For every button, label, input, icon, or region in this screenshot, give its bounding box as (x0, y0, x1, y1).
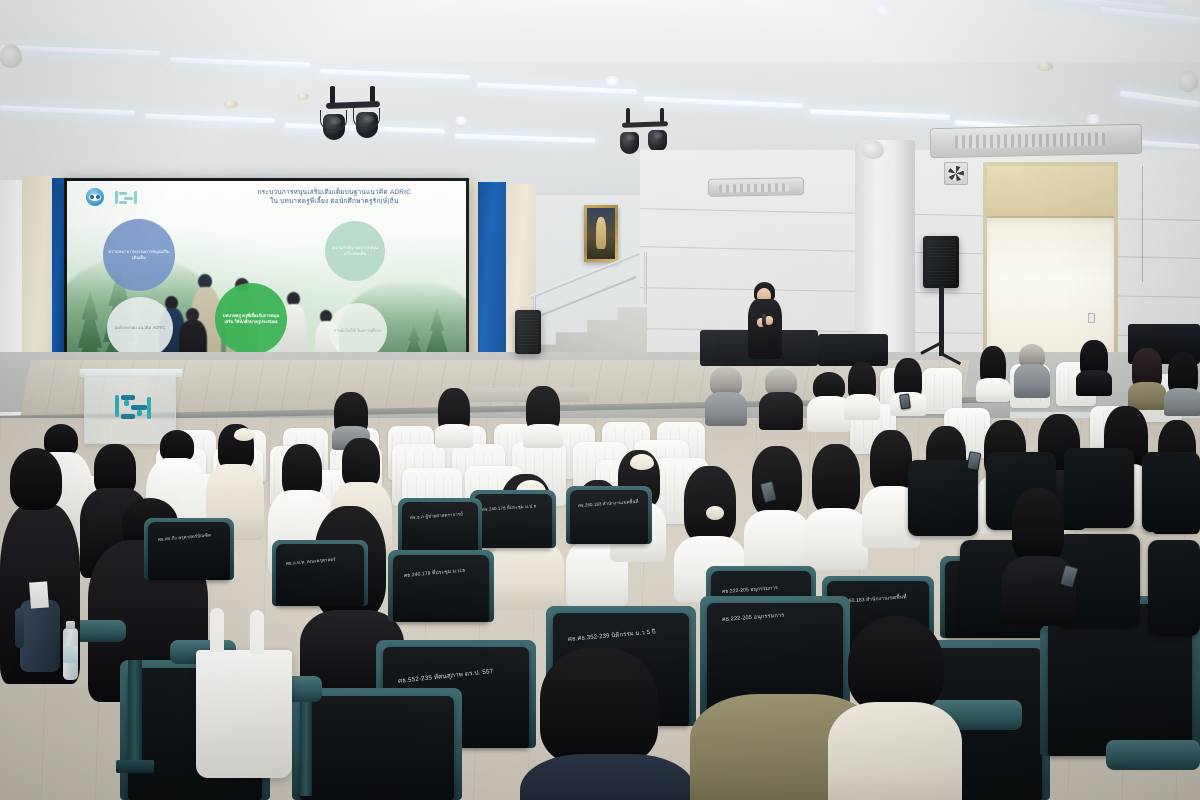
spotlight-lens (651, 132, 663, 139)
spotlight-lens (623, 134, 635, 141)
pole-mounted-speaker (923, 236, 959, 288)
mobile-phone[interactable] (899, 393, 911, 409)
spotlight-rod (370, 86, 375, 102)
spotlight-rod (660, 108, 664, 122)
framed-portrait (584, 205, 618, 262)
smoke-detector (297, 93, 309, 100)
chair-pedestal (300, 700, 312, 796)
roller-blind-valance[interactable] (987, 166, 1114, 218)
paper-sheet (29, 581, 49, 608)
slide-circle-label: บทบาทครู ครูพี่เลี้ยงกับการหนุนเสริม ให้… (219, 313, 283, 324)
auditorium-photo: กระบวนการหนุนเสริมเติมเต็มบนฐานแนวคิด AD… (0, 0, 1200, 800)
slide-circle-grey: องค์ประกอบ แนวคิด ADRIC (107, 297, 173, 359)
chair-auditorium-back[interactable] (1142, 452, 1200, 532)
audience-person (828, 616, 958, 800)
chair-armrest (1106, 740, 1200, 770)
exhaust-fan (944, 162, 968, 185)
speaker-grill (927, 240, 955, 284)
recessed-downlight (604, 76, 620, 86)
navy-backpack[interactable] (20, 600, 60, 672)
presenter-body (748, 299, 782, 359)
audience-person (524, 386, 562, 440)
speaker-stand-pole (939, 286, 944, 356)
chair-auditorium[interactable]: ศธ.240.178 ที่ประชุม ม.ป.ธ (388, 550, 494, 622)
stage-floor-speaker (515, 310, 541, 354)
chair-auditorium[interactable]: ศธ.อ.ท.ท. คณะครุศาสตร์ (272, 540, 368, 606)
slide-title-line2: ใน บทบาทครูพี่เลี้ยง ต่อนักศึกษาครูรัก(ษ… (219, 197, 450, 206)
water-bottle[interactable] (63, 628, 78, 680)
handheld-microphone[interactable] (762, 314, 766, 326)
air-conditioner (930, 124, 1143, 158)
presenter-hand (765, 316, 773, 325)
chair-auditorium-back[interactable] (908, 460, 978, 536)
audience-person (1002, 488, 1076, 620)
chair-auditorium[interactable]: ศธ.260.183 สำนักงานเขตพื้นที่ (566, 486, 652, 544)
spotlight-rod (330, 86, 335, 104)
led-screen: กระบวนการหนุนเสริมเติมเต็มบนฐานแนวคิด AD… (64, 178, 469, 371)
chair-base-foot (116, 760, 154, 773)
smoke-detector (1037, 62, 1053, 71)
school-emblem-icon (86, 188, 104, 206)
tote-handle (250, 610, 264, 654)
recessed-downlight (454, 116, 468, 125)
audience-person (744, 446, 810, 568)
speaker-grill (518, 313, 538, 351)
audience-person (1130, 348, 1164, 402)
slide-title: กระบวนการหนุนเสริมเติมเต็มบนฐานแนวคิด AD… (219, 188, 450, 206)
audience-person (520, 648, 690, 800)
recessed-downlight (872, 4, 892, 16)
chair-auditorium[interactable]: ศธ.240.178 ที่ประชุม ม.ป.ธ (470, 490, 556, 548)
ceiling-upper-band (0, 0, 1200, 62)
spotlight-yoke (320, 110, 347, 130)
presenter (742, 282, 788, 358)
wall-outlet (1088, 313, 1095, 323)
adric-network-logo-icon (115, 190, 137, 206)
chair-auditorium-back[interactable] (1148, 540, 1200, 636)
chair-auditorium[interactable]: ศธ.ธ.ภ ผู้ช่วยศาสตราจารย์ (398, 498, 482, 556)
podium-top-surface (79, 368, 183, 377)
audience-person (762, 368, 800, 424)
audience-person (846, 362, 878, 412)
audience-person (332, 392, 370, 442)
wall-mounted-speaker (0, 44, 22, 68)
audience-person (1016, 344, 1048, 394)
hair-bow (234, 428, 254, 441)
blind-pull-cord[interactable] (1142, 166, 1143, 282)
chair-auditorium[interactable]: ศธ.ศธ.ถึง ครุศาสตร์บัณฑิต (144, 518, 234, 580)
tote-handle (210, 608, 224, 652)
slide-title-line1: กระบวนการหนุนเสริมเติมเต็มบนฐานแนวคิด AD… (219, 188, 450, 197)
slide-circle-label: การนำไปใช้ ในสถานศึกษา (334, 328, 383, 334)
portrait-image (587, 208, 615, 259)
slide-circle-mint: ความสำคัญ ของการหนุนเสริมเติมเต็ม (325, 221, 385, 281)
audience-person (1078, 340, 1110, 388)
slide-circle-blue: ความหมาย กระบวนการหนุนเสริมเติมเต็ม (103, 219, 175, 291)
hair-scrunchie (706, 506, 724, 520)
air-conditioner (708, 177, 804, 197)
slide-circle-pale: การนำไปใช้ ในสถานศึกษา (329, 303, 387, 359)
handrail-post (644, 252, 647, 304)
institution-logo-icon (115, 391, 151, 425)
ac-grill (955, 133, 1105, 149)
chair-pedestal (128, 660, 142, 770)
audience-person (804, 444, 868, 564)
wall-mounted-speaker (862, 140, 884, 159)
stage-spotlight-rig (318, 86, 390, 148)
slide-circle-label: ความหมาย กระบวนการหนุนเสริมเติมเต็ม (107, 249, 171, 260)
ac-grill (719, 183, 789, 192)
spotlight-yoke (353, 108, 380, 128)
slide-circle-green: บทบาทครู ครูพี่เลี้ยงกับการหนุนเสริม ให้… (215, 283, 287, 355)
canvas-tote-bag[interactable] (196, 650, 292, 778)
slide-circle-label: องค์ประกอบ แนวคิด ADRIC (114, 325, 165, 331)
slide-content: กระบวนการหนุนเสริมเติมเต็มบนฐานแนวคิด AD… (67, 181, 466, 368)
hair-bow (630, 454, 654, 470)
audience-person (708, 366, 744, 422)
smoke-detector (224, 100, 238, 108)
audience-person (436, 388, 472, 440)
audience-person (978, 346, 1008, 394)
spotlight-crossbar (622, 121, 668, 128)
portrait-figure (596, 217, 606, 249)
slide-circle-label: ความสำคัญ ของการหนุนเสริมเติมเต็ม (329, 245, 381, 256)
backpack-strap (15, 608, 24, 648)
audience-person (810, 372, 848, 426)
audience-person (1166, 352, 1200, 408)
wall-mounted-speaker (1178, 70, 1198, 92)
chair-auditorium[interactable] (292, 688, 462, 800)
bottle-cap (66, 621, 75, 629)
acoustic-panel-blue (478, 182, 506, 364)
recessed-downlight (1085, 114, 1101, 124)
fan-blades (948, 166, 964, 181)
bottle-label (63, 646, 78, 663)
